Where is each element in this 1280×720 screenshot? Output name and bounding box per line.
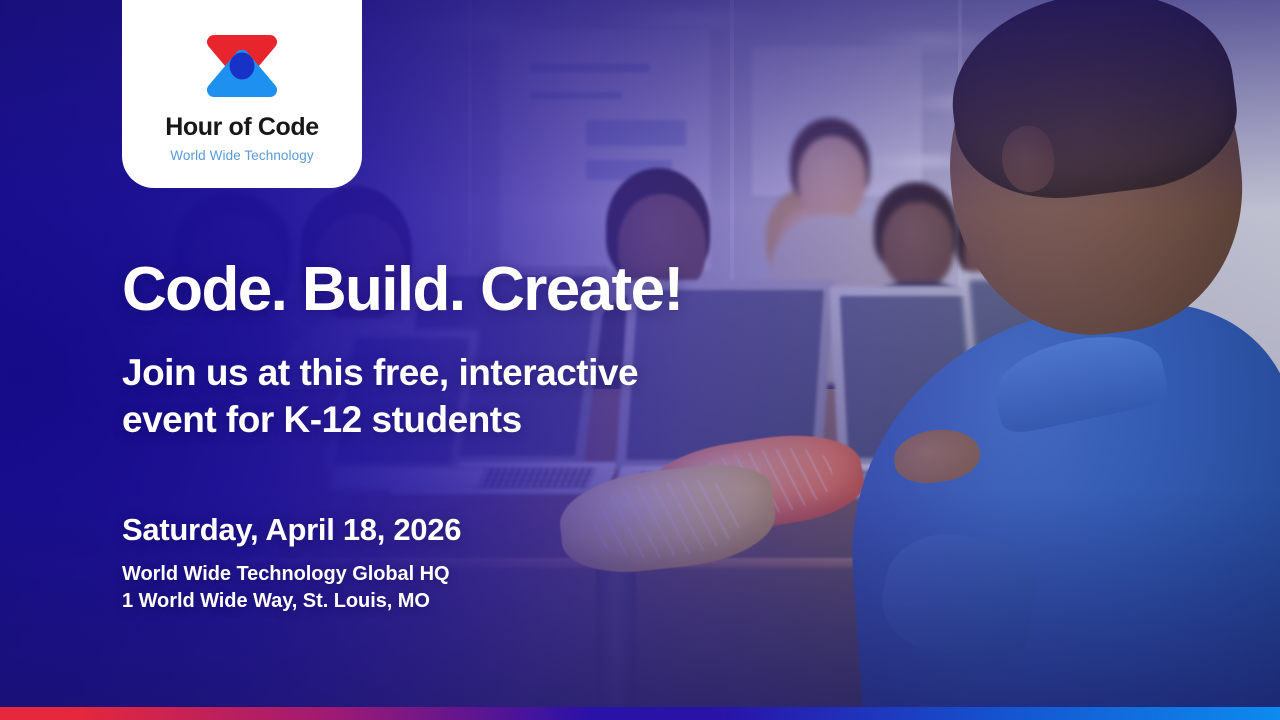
hourglass-logo-icon [204,29,280,103]
subheadline: Join us at this free, interactive event … [122,350,722,443]
bottom-accent-bar [0,707,1280,720]
venue-name: World Wide Technology Global HQ [122,561,842,589]
event-date: Saturday, April 18, 2026 [122,514,842,545]
logo-title: Hour of Code [165,115,319,140]
logo-card[interactable]: Hour of Code World Wide Technology [122,0,362,188]
logo-subtitle: World Wide Technology [170,149,313,163]
copy-block: Code. Build. Create! Join us at this fre… [122,258,842,616]
headline: Code. Build. Create! [122,258,842,322]
venue-address: 1 World Wide Way, St. Louis, MO [122,588,842,616]
event-banner: Hour of Code World Wide Technology Code.… [0,0,1280,720]
